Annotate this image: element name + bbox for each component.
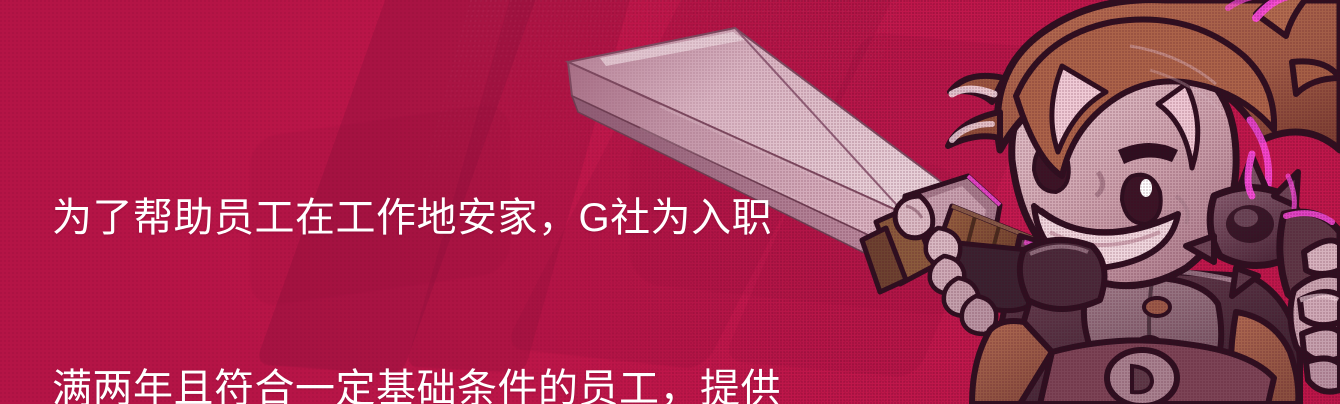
- promotional-banner: 为了帮助员工在工作地安家，G社为入职 满两年且符合一定基础条件的员工，提供 在工…: [0, 0, 1340, 404]
- copy-line-1: 为了帮助员工在工作地安家，G社为入职: [52, 190, 812, 247]
- promo-copy: 为了帮助员工在工作地安家，G社为入职 满两年且符合一定基础条件的员工，提供 在工…: [52, 76, 812, 404]
- copy-line-2: 满两年且符合一定基础条件的员工，提供: [52, 361, 812, 404]
